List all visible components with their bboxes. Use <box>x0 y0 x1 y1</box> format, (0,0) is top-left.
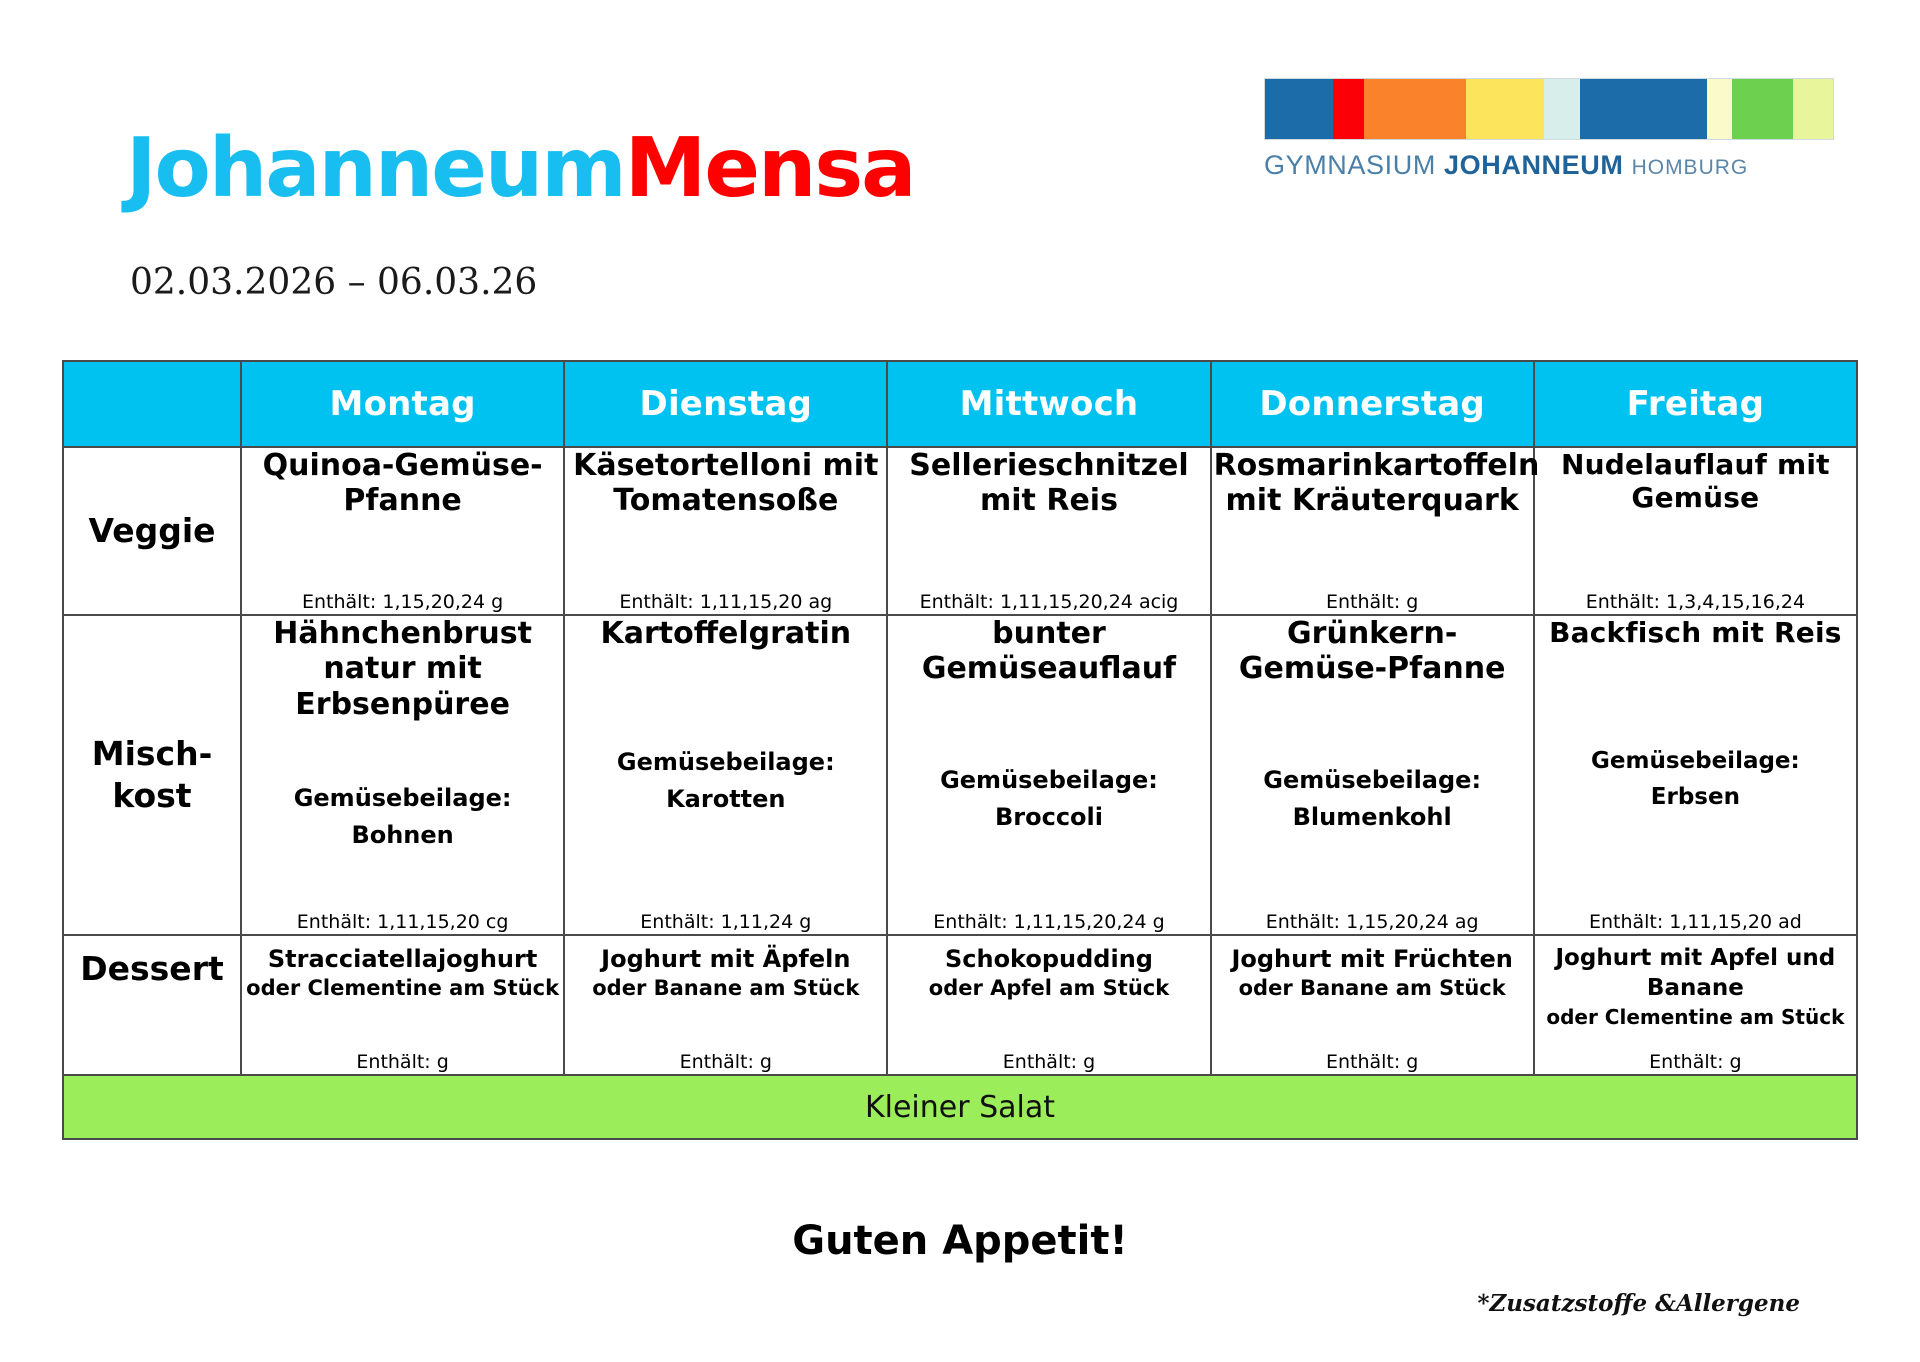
day-header-freitag: Freitag <box>1534 361 1857 447</box>
dish-name: Kartoffelgratin <box>565 616 886 651</box>
allergen-info: Enthält: 1,11,15,20 ag <box>565 591 886 614</box>
menu-cell-veggie-mittwoch: Sellerieschnitzel mit Reis Enthält: 1,11… <box>887 447 1210 615</box>
allergen-info: Enthält: g <box>1212 591 1533 614</box>
table-row-dessert: Dessert Stracciatellajoghurt oder Clemen… <box>63 935 1857 1075</box>
allergen-info: Enthält: 1,11,24 g <box>565 911 886 934</box>
logo-bar-blue-1 <box>1265 79 1333 139</box>
menu-cell-dessert-donnerstag: Joghurt mit Früchten oder Banane am Stüc… <box>1211 935 1534 1075</box>
logo-bar-yellow <box>1466 79 1544 139</box>
brand-title: JohanneumMensa <box>126 128 914 210</box>
dish-name: Käsetortelloni mit Tomatensoße <box>565 448 886 519</box>
dessert-alternative: oder Clementine am Stück <box>242 975 563 1002</box>
salad-bar-label: Kleiner Salat <box>63 1075 1857 1139</box>
dessert-alternative: oder Banane am Stück <box>565 975 886 1002</box>
allergen-info: Enthält: 1,15,20,24 g <box>242 591 563 614</box>
side-dish-label: Gemüsebeilage: <box>888 762 1209 799</box>
menu-cell-dessert-freitag: Joghurt mit Apfel und Banane oder Clemen… <box>1534 935 1857 1075</box>
allergen-info: Enthält: g <box>565 1051 886 1074</box>
allergen-info: Enthält: 1,11,15,20 ad <box>1535 911 1856 934</box>
side-dish-value: Karotten <box>565 781 886 818</box>
menu-cell-veggie-montag: Quinoa-Gemüse-Pfanne Enthält: 1,15,20,24… <box>241 447 564 615</box>
dish-name: Joghurt mit Apfel und Banane <box>1535 944 1856 1004</box>
weekly-menu-table: Montag Dienstag Mittwoch Donnerstag Frei… <box>62 360 1858 1140</box>
dessert-alternative: oder Apfel am Stück <box>888 975 1209 1002</box>
row-label-veggie: Veggie <box>63 447 241 615</box>
dish-name: Joghurt mit Früchten <box>1212 944 1533 975</box>
menu-cell-dessert-dienstag: Joghurt mit Äpfeln oder Banane am Stück … <box>564 935 887 1075</box>
footer-allergen-note: *Zusatzstoffe &Allergene <box>1477 1290 1800 1317</box>
dish-name: Nudelauflauf mit Gemüse <box>1535 448 1856 514</box>
logo-bar-cream <box>1707 79 1732 139</box>
side-dish-label: Gemüsebeilage: <box>242 780 563 817</box>
logo-text-homburg: HOMBURG <box>1632 156 1749 179</box>
dish-name: Stracciatellajoghurt <box>242 944 563 975</box>
logo-color-bars <box>1264 78 1834 140</box>
allergen-info: Enthält: g <box>242 1051 563 1074</box>
menu-cell-mischkost-freitag: Backfisch mit Reis Gemüsebeilage: Erbsen… <box>1534 615 1857 935</box>
dish-name: bunter Gemüseauflauf <box>888 616 1209 687</box>
side-dish-value: Broccoli <box>888 799 1209 836</box>
menu-cell-veggie-donnerstag: Rosmarinkartoffeln mit Kräuterquark Enth… <box>1211 447 1534 615</box>
row-label-dessert: Dessert <box>63 935 241 1075</box>
dish-name: Schokopudding <box>888 944 1209 975</box>
side-dish-label: Gemüsebeilage: <box>1535 744 1856 780</box>
row-label-mischkost-line1: Misch- <box>64 733 240 775</box>
brand-title-johanneum: Johanneum <box>126 121 625 216</box>
dish-name: Quinoa-Gemüse-Pfanne <box>242 448 563 519</box>
menu-page: JohanneumMensa 02.03.2026 – 06.03.26 GYM… <box>0 0 1920 1362</box>
side-dish-label: Gemüsebeilage: <box>565 744 886 781</box>
dish-name: Grünkern-Gemüse-Pfanne <box>1212 616 1533 687</box>
side-dish-value: Bohnen <box>242 817 563 854</box>
menu-cell-veggie-dienstag: Käsetortelloni mit Tomatensoße Enthält: … <box>564 447 887 615</box>
logo-bar-orange <box>1364 79 1467 139</box>
menu-cell-dessert-montag: Stracciatellajoghurt oder Clementine am … <box>241 935 564 1075</box>
allergen-info: Enthält: 1,11,15,20,24 acig <box>888 591 1209 614</box>
day-header-montag: Montag <box>241 361 564 447</box>
dessert-alternative: oder Banane am Stück <box>1212 975 1533 1002</box>
allergen-info: Enthält: 1,3,4,15,16,24 <box>1535 591 1856 614</box>
dessert-alternative: oder Clementine am Stück <box>1535 1004 1856 1030</box>
day-header-mittwoch: Mittwoch <box>887 361 1210 447</box>
dish-name: Backfisch mit Reis <box>1535 616 1856 649</box>
side-dish-value: Erbsen <box>1535 780 1856 816</box>
dish-name: Sellerieschnitzel mit Reis <box>888 448 1209 519</box>
menu-cell-mischkost-montag: Hähnchenbrust natur mit Erbsenpüree Gemü… <box>241 615 564 935</box>
logo-bar-green <box>1732 79 1793 139</box>
allergen-info: Enthält: g <box>1212 1051 1533 1074</box>
day-header-donnerstag: Donnerstag <box>1211 361 1534 447</box>
row-label-mischkost-line2: kost <box>64 775 240 817</box>
dish-name: Rosmarinkartoffeln mit Kräuterquark <box>1212 448 1533 519</box>
dish-name: Hähnchenbrust natur mit Erbsenpüree <box>242 616 563 722</box>
allergen-info: Enthält: 1,11,15,20,24 g <box>888 911 1209 934</box>
menu-cell-mischkost-mittwoch: bunter Gemüseauflauf Gemüsebeilage: Broc… <box>887 615 1210 935</box>
allergen-info: Enthält: 1,11,15,20 cg <box>242 911 563 934</box>
menu-cell-mischkost-dienstag: Kartoffelgratin Gemüsebeilage: Karotten … <box>564 615 887 935</box>
table-corner-cell <box>63 361 241 447</box>
table-row-veggie: Veggie Quinoa-Gemüse-Pfanne Enthält: 1,1… <box>63 447 1857 615</box>
side-dish-label: Gemüsebeilage: <box>1212 762 1533 799</box>
logo-wordmark: GYMNASIUM JOHANNEUM HOMBURG <box>1264 150 1834 181</box>
dish-name: Joghurt mit Äpfeln <box>565 944 886 975</box>
menu-cell-veggie-freitag: Nudelauflauf mit Gemüse Enthält: 1,3,4,1… <box>1534 447 1857 615</box>
table-row-mischkost: Misch- kost Hähnchenbrust natur mit Erbs… <box>63 615 1857 935</box>
footer-guten-appetit: Guten Appetit! <box>0 1218 1920 1264</box>
logo-text-johanneum: JOHANNEUM <box>1444 150 1623 180</box>
table-header-row: Montag Dienstag Mittwoch Donnerstag Frei… <box>63 361 1857 447</box>
day-header-dienstag: Dienstag <box>564 361 887 447</box>
allergen-info: Enthält: g <box>1535 1051 1856 1074</box>
logo-text-gymnasium: GYMNASIUM <box>1264 150 1436 180</box>
allergen-info: Enthält: g <box>888 1051 1209 1074</box>
table-row-salad: Kleiner Salat <box>63 1075 1857 1139</box>
school-logo: GYMNASIUM JOHANNEUM HOMBURG <box>1264 78 1834 181</box>
logo-bar-red <box>1333 79 1364 139</box>
allergen-info: Enthält: 1,15,20,24 ag <box>1212 911 1533 934</box>
logo-bar-blue-2 <box>1580 79 1708 139</box>
page-header: JohanneumMensa 02.03.2026 – 06.03.26 GYM… <box>0 0 1920 290</box>
date-range: 02.03.2026 – 06.03.26 <box>130 262 537 303</box>
logo-bar-mint <box>1544 79 1580 139</box>
side-dish-value: Blumenkohl <box>1212 799 1533 836</box>
logo-bar-limepale <box>1793 79 1833 139</box>
menu-cell-dessert-mittwoch: Schokopudding oder Apfel am Stück Enthäl… <box>887 935 1210 1075</box>
menu-cell-mischkost-donnerstag: Grünkern-Gemüse-Pfanne Gemüsebeilage: Bl… <box>1211 615 1534 935</box>
brand-title-mensa: Mensa <box>625 121 915 216</box>
row-label-mischkost: Misch- kost <box>63 615 241 935</box>
